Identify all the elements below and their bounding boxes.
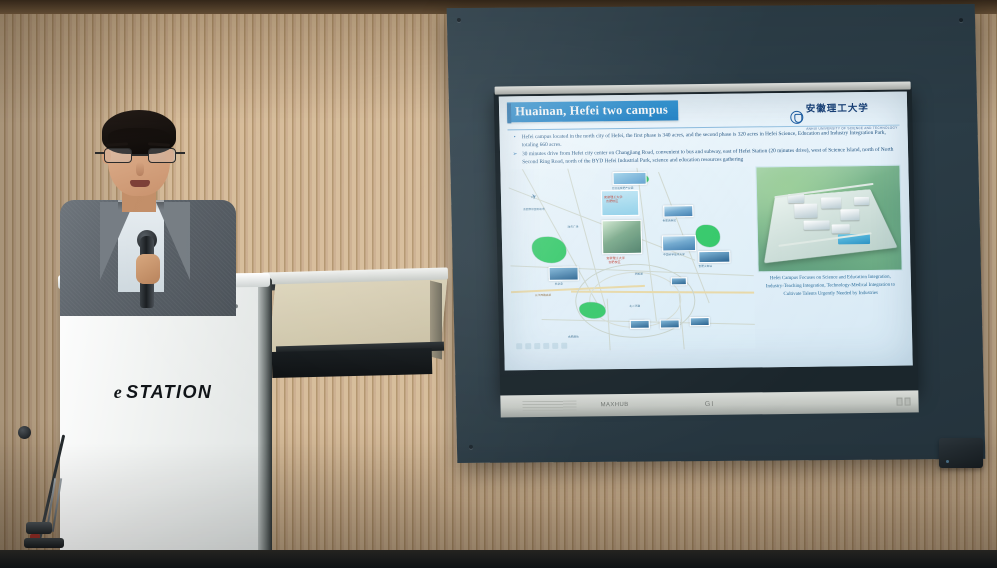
display-center-logo: GI [705, 400, 715, 407]
windows-taskbar-ghost[interactable] [516, 342, 567, 349]
map-campus-thumbnail [602, 219, 643, 253]
usb-port-icon[interactable] [904, 398, 910, 406]
slide-body: 安徽理工大学 合肥校区 安徽理工大学 合肥校区 比亚迪合肥产业园 合肥高新区 中… [508, 164, 904, 351]
taskbar-icon[interactable] [561, 342, 567, 348]
map-green-area [532, 236, 567, 262]
hefei-city-location-map: 安徽理工大学 合肥校区 安徽理工大学 合肥校区 比亚迪合肥产业园 合肥高新区 中… [508, 166, 755, 351]
bullet-marker: ➢ [512, 150, 518, 167]
map-photo-thumbnail [671, 277, 687, 285]
campus-building [854, 197, 868, 205]
taskbar-icon[interactable] [525, 343, 531, 349]
e-station-logo: eSTATION [60, 382, 266, 403]
rendering-caption: Hefei Campus Focuses on Science and Educ… [758, 273, 903, 299]
blazer-lapel-left [100, 202, 134, 280]
speaker-grille [522, 400, 576, 412]
panel-screw [959, 18, 963, 22]
campus-building [821, 197, 841, 209]
wall-mounted-control-panel[interactable] [939, 438, 983, 468]
taskbar-icon[interactable] [552, 342, 558, 348]
microphone-stand-base [24, 538, 64, 548]
university-emblem-icon [790, 110, 803, 123]
interactive-flat-panel-display[interactable]: Huainan, Hefei two campus 安徽理工大学 ANHUI U… [494, 87, 919, 395]
e-station-wordmark: STATION [126, 382, 212, 402]
taskbar-icon[interactable] [534, 343, 540, 349]
campus-building [794, 204, 817, 218]
map-photo-thumbnail [662, 235, 696, 251]
map-photo-thumbnail [612, 171, 646, 184]
desk-underside-shadow [272, 348, 433, 378]
map-green-area [579, 302, 605, 318]
slide-bullet-list: • Hefei campus located in the north city… [508, 129, 901, 167]
map-photo-thumbnail [630, 319, 650, 328]
microphone-stand-clamp [26, 522, 52, 534]
status-led-icon [946, 460, 949, 463]
display-ports[interactable] [896, 398, 910, 406]
blazer-lapel-right [156, 202, 190, 280]
display-brand-label: MAXHUB [600, 402, 628, 408]
map-green-area [696, 224, 720, 246]
slide-header: Huainan, Hefei two campus 安徽理工大学 ANHUI U… [507, 98, 900, 129]
map-photo-thumbnail [660, 319, 680, 328]
map-photo-thumbnail [663, 205, 693, 217]
presentation-slide: Huainan, Hefei two campus 安徽理工大学 ANHUI U… [499, 92, 913, 371]
hefei-campus-aerial-rendering [755, 164, 902, 272]
title-accent-bar [507, 103, 511, 123]
microphone-stand-rods [50, 478, 66, 532]
presenter-mouth [130, 180, 150, 187]
presentation-room-photo: Huainan, Hefei two campus 安徽理工大学 ANHUI U… [0, 0, 997, 568]
floor-shadow [0, 550, 997, 568]
map-photo-thumbnail [690, 317, 710, 326]
map-photo-thumbnail [698, 250, 730, 262]
university-logo-chinese: 安徽理工大学 [806, 104, 869, 115]
presenter-nose [136, 162, 144, 176]
display-screen[interactable]: Huainan, Hefei two campus 安徽理工大学 ANHUI U… [499, 92, 913, 371]
bullet-marker: • [512, 133, 518, 150]
slide-title: Huainan, Hefei two campus [507, 100, 678, 122]
university-logo: 安徽理工大学 ANHUI UNIVERSITY OF SCIENCE AND T… [790, 98, 898, 135]
e-station-lectern[interactable]: eSTATION [60, 280, 266, 568]
usb-port-icon[interactable] [896, 398, 902, 406]
gooseneck-microphone-head-icon [18, 426, 31, 439]
campus-building [832, 224, 849, 234]
taskbar-icon[interactable] [543, 343, 549, 349]
e-station-e-mark: e [114, 382, 123, 403]
bullet-item: ➢ 30 minutes drive from Hefei city cente… [512, 146, 900, 167]
presenter-hand [136, 254, 160, 284]
presenter [52, 104, 252, 304]
campus-rendering-column: Hefei Campus Focuses on Science and Educ… [755, 164, 904, 348]
map-photo-thumbnail [549, 266, 579, 280]
lectern-right-edge [258, 278, 272, 562]
university-logo-english: ANHUI UNIVERSITY OF SCIENCE AND TECHNOLO… [806, 126, 897, 131]
panel-screw [457, 18, 461, 22]
campus-building [803, 220, 829, 230]
taskbar-icon[interactable] [516, 343, 522, 349]
bullet-text: 30 minutes drive from Hefei city center … [522, 146, 900, 167]
campus-building [840, 209, 859, 220]
